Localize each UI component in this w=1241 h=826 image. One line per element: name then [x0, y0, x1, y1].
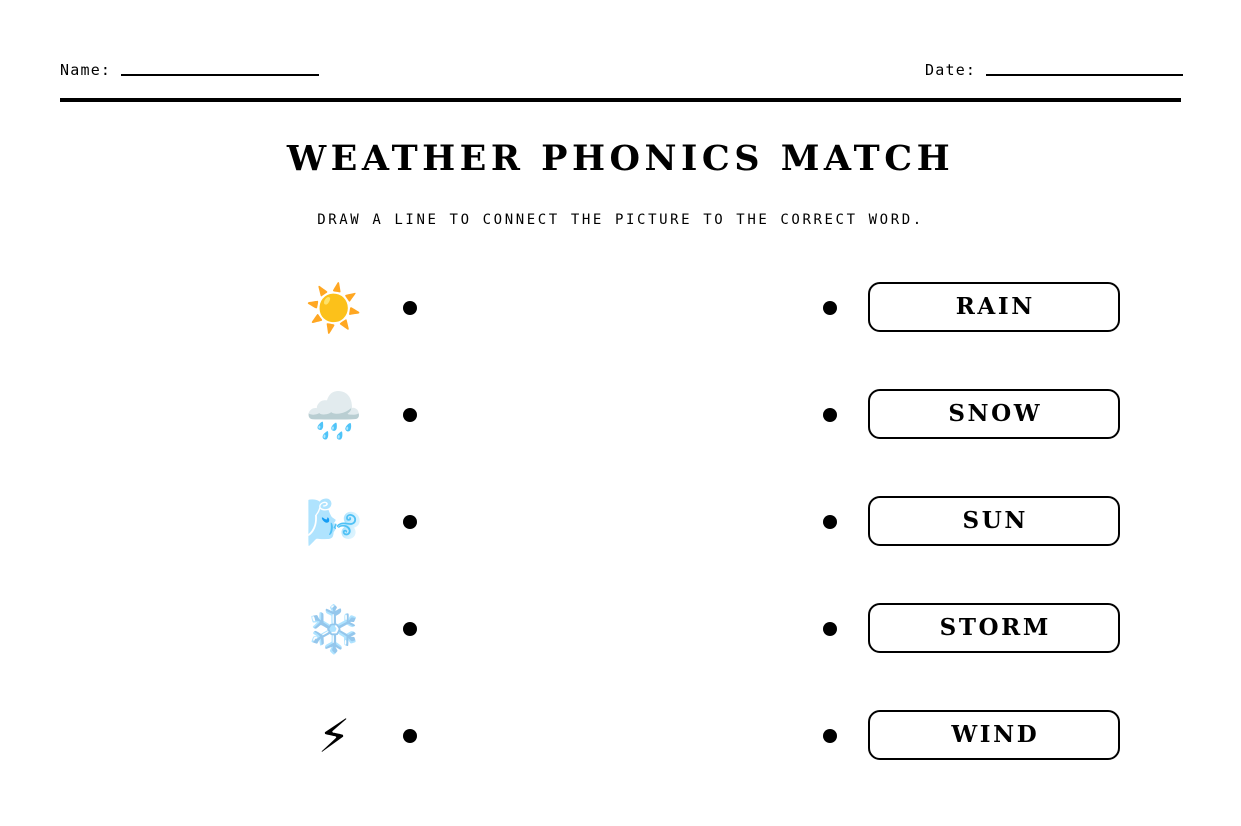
- word-label-3: SUN: [960, 508, 1028, 534]
- name-write-in-line[interactable]: [121, 74, 319, 76]
- connector-dot-left-4[interactable]: [403, 622, 417, 636]
- connector-dot-left-2[interactable]: [403, 408, 417, 422]
- instructions-text: DRAW A LINE TO CONNECT THE PICTURE TO TH…: [0, 210, 1241, 230]
- picture-cell-1: ☀️: [297, 274, 371, 342]
- worksheet-header: Name: Date:: [0, 0, 1241, 100]
- connector-dot-left-5[interactable]: [403, 729, 417, 743]
- word-label-2: SNOW: [946, 401, 1043, 427]
- connector-dot-right-2[interactable]: [823, 408, 837, 422]
- picture-cell-2: 🌧️: [297, 381, 371, 449]
- connector-dot-right-3[interactable]: [823, 515, 837, 529]
- picture-cell-4: ❄️: [297, 595, 371, 663]
- date-label: Date:: [925, 61, 976, 79]
- match-row: ☀️ RAIN: [0, 268, 1241, 375]
- word-label-1: RAIN: [953, 294, 1035, 320]
- header-divider: [60, 98, 1181, 102]
- picture-cell-5: ⚡: [297, 702, 371, 770]
- match-row: 🌧️ SNOW: [0, 375, 1241, 482]
- matching-exercise: ☀️ RAIN 🌧️ SNOW 🌬️ SUN ❄️: [0, 268, 1241, 803]
- word-label-5: WIND: [949, 722, 1040, 748]
- wind-face-icon: 🌬️: [305, 499, 362, 545]
- date-field: Date:: [925, 57, 1183, 79]
- snowflake-icon: ❄️: [305, 606, 362, 652]
- lightning-bolt-icon: ⚡: [318, 713, 350, 759]
- rain-cloud-icon: 🌧️: [305, 392, 362, 438]
- word-box-3[interactable]: SUN: [868, 496, 1120, 546]
- connector-dot-left-1[interactable]: [403, 301, 417, 315]
- picture-cell-3: 🌬️: [297, 488, 371, 556]
- connector-dot-left-3[interactable]: [403, 515, 417, 529]
- word-box-2[interactable]: SNOW: [868, 389, 1120, 439]
- connector-dot-right-4[interactable]: [823, 622, 837, 636]
- name-field: Name:: [60, 57, 319, 79]
- word-box-4[interactable]: STORM: [868, 603, 1120, 653]
- match-row: 🌬️ SUN: [0, 482, 1241, 589]
- word-box-5[interactable]: WIND: [868, 710, 1120, 760]
- match-row: ⚡ WIND: [0, 696, 1241, 803]
- sun-icon: ☀️: [305, 285, 362, 331]
- word-box-1[interactable]: RAIN: [868, 282, 1120, 332]
- connector-dot-right-1[interactable]: [823, 301, 837, 315]
- word-label-4: STORM: [937, 615, 1051, 641]
- match-row: ❄️ STORM: [0, 589, 1241, 696]
- page-title: WEATHER PHONICS MATCH: [0, 138, 1241, 180]
- date-write-in-line[interactable]: [986, 74, 1183, 76]
- name-label: Name:: [60, 61, 111, 79]
- connector-dot-right-5[interactable]: [823, 729, 837, 743]
